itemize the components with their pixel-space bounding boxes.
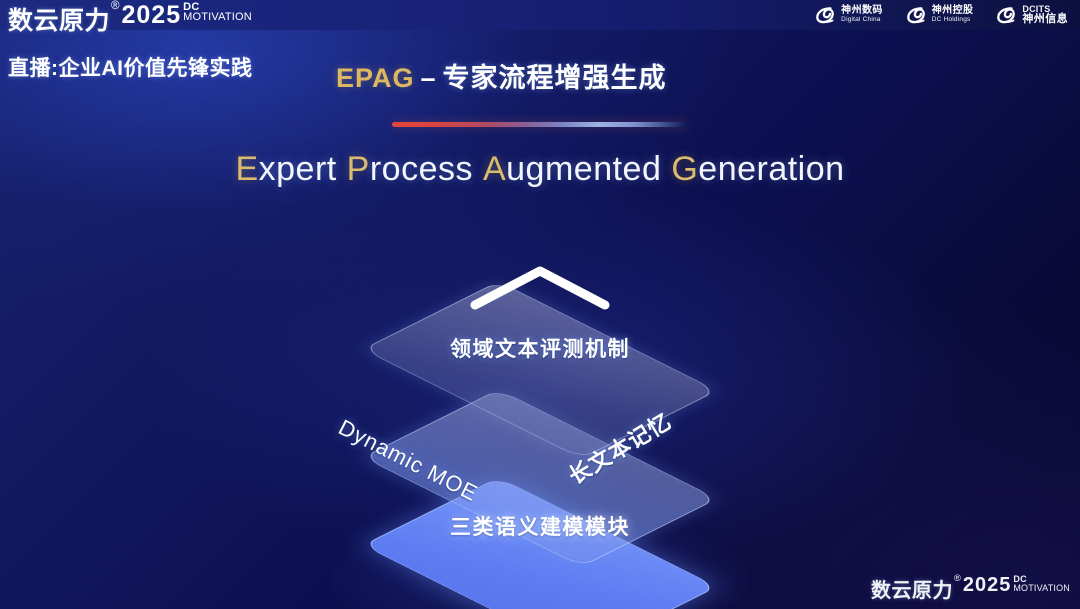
partner-logo-dc-holdings: 神州控股 DC Holdings [905,4,974,26]
brand-logo-top: 数云原力 ® 2025 DC MOTIVATION [8,1,252,37]
partner-logo-digital-china: 神州数码 Digital China [814,4,883,26]
subtitle-chinese: 专家流程增强生成 [443,63,667,93]
layered-stack-diagram: 领域文本评测机制 Dynamic MOE 长文本记忆 三类语义建模模块 [270,215,810,575]
registered-mark-icon: ® [954,574,961,583]
brand-name-cn: 数云原力 [8,1,110,37]
brand-dc-motivation: DC MOTIVATION [1013,575,1070,592]
gradient-divider [392,122,688,127]
live-broadcast-label: 直播:企业AI价值先锋实践 [8,52,253,82]
brand-name-cn: 数云原力 [871,574,953,603]
partner-name-en: DCITS [1022,5,1068,14]
headline-word: Generation [671,150,844,188]
stack-plate-top [362,281,717,459]
headline-rest: ugmented [506,150,661,188]
headline-space [473,150,483,188]
page-title: Expert Process Augmented Generation [0,150,1080,189]
brand-dc-motivation: DC MOTIVATION [183,2,252,23]
headline-initial: E [235,150,258,188]
brand-dc-line2: MOTIVATION [1013,584,1070,593]
headline-word: Process [347,150,473,188]
subtitle-acronym: EPAG [336,63,415,93]
registered-mark-icon: ® [111,1,119,13]
brand-logo-watermark: 数云原力 ® 2025 DC MOTIVATION [871,574,1070,603]
headline-initial: A [483,150,506,188]
headline-space [661,150,671,188]
swirl-logo-icon [905,4,927,26]
partner-name-cn: 神州信息 [1022,14,1068,26]
brand-year: 2025 [122,1,182,30]
slide-subtitle: EPAG–专家流程增强生成 [336,56,667,95]
swirl-logo-icon [814,4,836,26]
partner-name-en: Digital China [841,17,883,24]
partner-name-en: DC Holdings [932,17,974,24]
subtitle-dash: – [421,63,437,93]
headline-rest: xpert [259,150,337,188]
brand-dc-line2: MOTIVATION [183,12,252,22]
slide-canvas: 数云原力 ® 2025 DC MOTIVATION 神州数码 Digital C… [0,0,1080,609]
headline-word: Augmented [483,150,661,188]
partner-logo-text: DCITS 神州信息 [1022,5,1068,26]
headline-word: Expert [235,150,336,188]
partner-logo-dcits: DCITS 神州信息 [995,4,1068,26]
headline-rest: eneration [698,150,844,188]
stack-layer-top [270,215,810,525]
brand-year: 2025 [963,574,1012,597]
headline-space [337,150,347,188]
partner-logo-text: 神州数码 Digital China [841,6,883,23]
partner-logo-text: 神州控股 DC Holdings [932,6,974,23]
headline-rest: rocess [370,150,473,188]
headline-initial: P [347,150,370,188]
partner-logo-group: 神州数码 Digital China 神州控股 DC Holdings DCIT… [814,4,1068,26]
headline-initial: G [671,150,698,188]
swirl-logo-icon [995,4,1017,26]
